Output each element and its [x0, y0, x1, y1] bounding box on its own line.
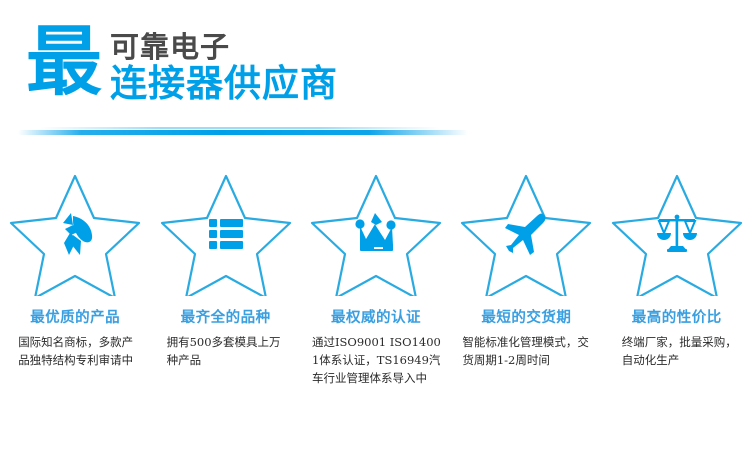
feature-description: 国际知名商标，多款产品独特结构专利审请中	[12, 334, 138, 370]
list-grid-icon	[203, 211, 249, 257]
crown-icon	[353, 211, 399, 257]
headline-big-character: 最	[26, 26, 102, 98]
feature-item-authoritative-certification: 最权威的认证 通过ISO9001 ISO14001体系认证，TS16949汽车行…	[301, 170, 451, 387]
star-badge	[7, 170, 143, 296]
feature-title: 最短的交货期	[481, 306, 571, 327]
star-badge	[458, 170, 594, 296]
header-divider	[18, 130, 468, 135]
headline-line-2: 连接器供应商	[110, 64, 338, 105]
feature-description: 终端厂家，批量采购，自动化生产	[614, 334, 740, 370]
feature-item-best-quality: 最优质的产品 国际知名商标，多款产品独特结构专利审请中	[0, 170, 150, 387]
feature-title: 最优质的产品	[30, 306, 120, 327]
page-header: 最 可靠电子 连接器供应商	[0, 0, 752, 140]
feature-title: 最权威的认证	[331, 306, 421, 327]
medal-ribbon-icon	[52, 211, 98, 257]
feature-title: 最齐全的品种	[181, 306, 271, 327]
star-badge	[158, 170, 294, 296]
feature-description: 智能标准化管理模式，交货周期1-2周时间	[460, 334, 592, 370]
feature-description: 通过ISO9001 ISO14001体系认证，TS16949汽车行业管理体系导入…	[310, 334, 442, 387]
feature-description: 拥有500多套模具上万种产品	[163, 334, 289, 370]
headline-line-1: 可靠电子	[110, 32, 338, 62]
balance-scale-icon	[654, 211, 700, 257]
airplane-icon	[503, 211, 549, 257]
star-badge	[308, 170, 444, 296]
header-divider-glow	[40, 127, 440, 129]
star-badge	[609, 170, 745, 296]
header-title-block: 最 可靠电子 连接器供应商	[26, 28, 338, 105]
feature-item-shortest-delivery: 最短的交货期 智能标准化管理模式，交货周期1-2周时间	[451, 170, 601, 387]
feature-item-best-value: 最高的性价比 终端厂家，批量采购，自动化生产	[602, 170, 752, 387]
feature-item-full-variety: 最齐全的品种 拥有500多套模具上万种产品	[150, 170, 300, 387]
feature-title: 最高的性价比	[632, 306, 722, 327]
feature-list: 最优质的产品 国际知名商标，多款产品独特结构专利审请中	[0, 170, 752, 387]
headline-lines: 可靠电子 连接器供应商	[110, 28, 338, 105]
